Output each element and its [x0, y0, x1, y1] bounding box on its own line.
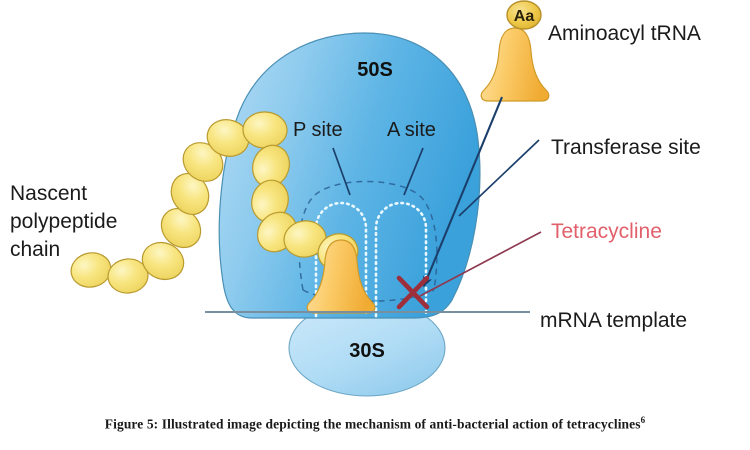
p-site-label: P site — [293, 119, 343, 141]
large-subunit-label: 50S — [357, 59, 393, 81]
aminoacyl-trna-label: Aminoacyl tRNA — [548, 22, 701, 45]
transferase-site-label: Transferase site — [551, 136, 701, 159]
figure-caption: Figure 5: Illustrated image depicting th… — [0, 415, 750, 433]
mrna-template-label: mRNA template — [540, 309, 687, 332]
translation-mechanism-diagram: 30S 50S Aa — [0, 0, 750, 450]
amino-acid-label: Aa — [514, 8, 535, 25]
polypeptide-bead — [68, 249, 114, 291]
nascent-chain-label-line1: Nascent — [10, 182, 87, 205]
figure-container: 30S 50S Aa — [0, 0, 750, 450]
a-site-label: A site — [387, 119, 436, 141]
nascent-chain-label-line3: chain — [10, 238, 60, 261]
aminoacyl-trna-incoming: Aa — [481, 1, 549, 101]
tetracycline-label: Tetracycline — [551, 220, 662, 243]
nascent-chain-label: Nascent polypeptide chain — [10, 182, 117, 261]
small-subunit-label: 30S — [349, 340, 385, 362]
figure-caption-superscript: 6 — [641, 415, 646, 425]
incoming-trna-body — [481, 28, 549, 101]
figure-caption-text: Figure 5: Illustrated image depicting th… — [105, 417, 641, 432]
nascent-chain-label-line2: polypeptide — [10, 210, 117, 233]
